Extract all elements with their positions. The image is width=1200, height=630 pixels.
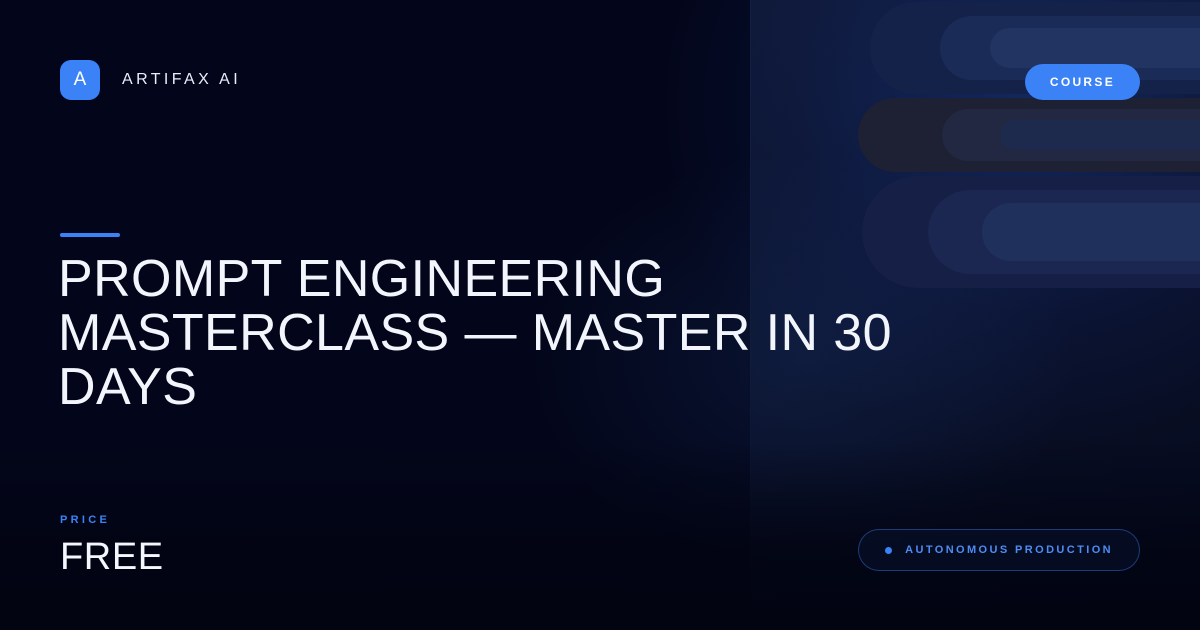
decorative-bar-3-layer-3 (982, 203, 1200, 261)
page-title: Prompt Engineering Masterclass — Master … (58, 252, 988, 414)
price-value: FREE (60, 537, 164, 577)
price-block: PRICE FREE (60, 514, 164, 577)
brand-lockup: A ARTIFAX AI (60, 60, 241, 100)
decorative-bar-2 (858, 98, 1200, 172)
decorative-bar-1-layer-3 (990, 28, 1200, 68)
brand-logo-icon: A (60, 60, 100, 100)
status-dot-icon (885, 547, 892, 554)
decorative-bar-2-layer-3 (1000, 120, 1200, 150)
status-badge-label: AUTONOMOUS PRODUCTION (905, 544, 1113, 556)
price-label: PRICE (60, 514, 164, 526)
brand-name: ARTIFAX AI (122, 71, 241, 89)
category-badge: COURSE (1025, 64, 1140, 100)
course-promo-card: A ARTIFAX AI COURSE Prompt Engineering M… (0, 0, 1200, 630)
status-badge: AUTONOMOUS PRODUCTION (858, 529, 1140, 571)
headline-accent-rule (60, 233, 120, 237)
